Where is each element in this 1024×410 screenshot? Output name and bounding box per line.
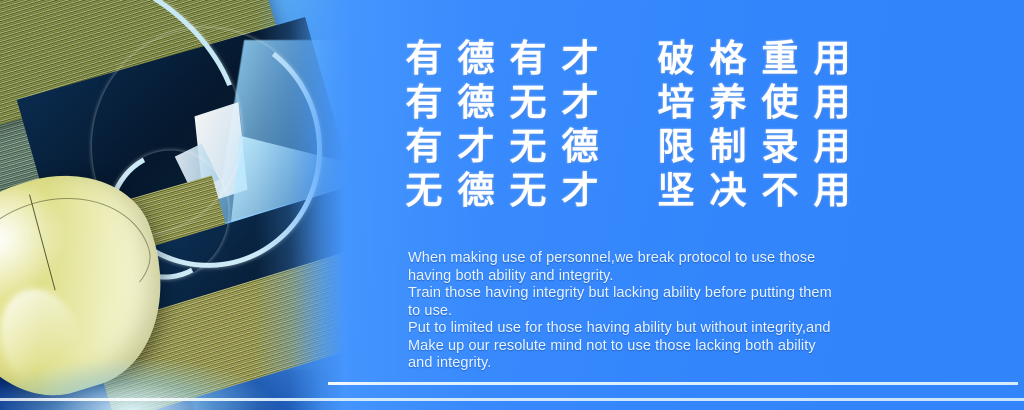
divider-rule-upper xyxy=(328,382,1018,385)
english-line: and integrity. xyxy=(408,355,938,373)
han-char: 无 xyxy=(398,170,450,212)
han-char: 用 xyxy=(806,38,858,80)
divider-rule-lower xyxy=(0,398,1024,401)
slogan-row: 有 德 有 才 破 格 重 用 xyxy=(398,38,958,80)
han-char: 德 xyxy=(450,82,502,124)
han-char: 有 xyxy=(398,38,450,80)
han-char: 才 xyxy=(554,38,606,80)
han-char: 养 xyxy=(702,82,754,124)
han-char: 无 xyxy=(502,82,554,124)
han-char: 决 xyxy=(702,170,754,212)
han-char: 有 xyxy=(398,82,450,124)
slogan-row: 有 德 无 才 培 养 使 用 xyxy=(398,82,958,124)
han-char: 培 xyxy=(650,82,702,124)
english-line: Make up our resolute mind not to use tho… xyxy=(408,338,938,356)
han-char: 有 xyxy=(502,38,554,80)
han-char: 用 xyxy=(806,82,858,124)
han-char: 德 xyxy=(450,38,502,80)
han-char: 不 xyxy=(754,170,806,212)
han-char: 才 xyxy=(554,170,606,212)
han-char: 德 xyxy=(554,126,606,168)
han-char: 限 xyxy=(650,126,702,168)
english-line: Train those having integrity but lacking… xyxy=(408,285,938,303)
han-char: 制 xyxy=(702,126,754,168)
han-char: 用 xyxy=(806,170,858,212)
slogan-grid: 有 德 有 才 破 格 重 用 有 德 无 才 培 养 使 用 有 才 无 德 xyxy=(398,38,958,214)
banner-image: 有 德 有 才 破 格 重 用 有 德 无 才 培 养 使 用 有 才 无 德 xyxy=(0,0,1024,410)
han-char: 德 xyxy=(450,170,502,212)
han-char: 破 xyxy=(650,38,702,80)
han-char: 录 xyxy=(754,126,806,168)
han-char: 有 xyxy=(398,126,450,168)
english-line: to use. xyxy=(408,303,938,321)
english-line: having both ability and integrity. xyxy=(408,268,938,286)
han-char: 坚 xyxy=(650,170,702,212)
han-char: 无 xyxy=(502,126,554,168)
english-line: Put to limited use for those having abil… xyxy=(408,320,938,338)
han-char: 格 xyxy=(702,38,754,80)
slogan-row: 有 才 无 德 限 制 录 用 xyxy=(398,126,958,168)
photo-panel xyxy=(0,0,345,410)
slogan-row: 无 德 无 才 坚 决 不 用 xyxy=(398,170,958,212)
english-line: When making use of personnel,we break pr… xyxy=(408,250,938,268)
han-char: 才 xyxy=(450,126,502,168)
han-char: 无 xyxy=(502,170,554,212)
english-translation: When making use of personnel,we break pr… xyxy=(408,250,938,373)
han-char: 才 xyxy=(554,82,606,124)
han-char: 使 xyxy=(754,82,806,124)
han-char: 重 xyxy=(754,38,806,80)
han-char: 用 xyxy=(806,126,858,168)
